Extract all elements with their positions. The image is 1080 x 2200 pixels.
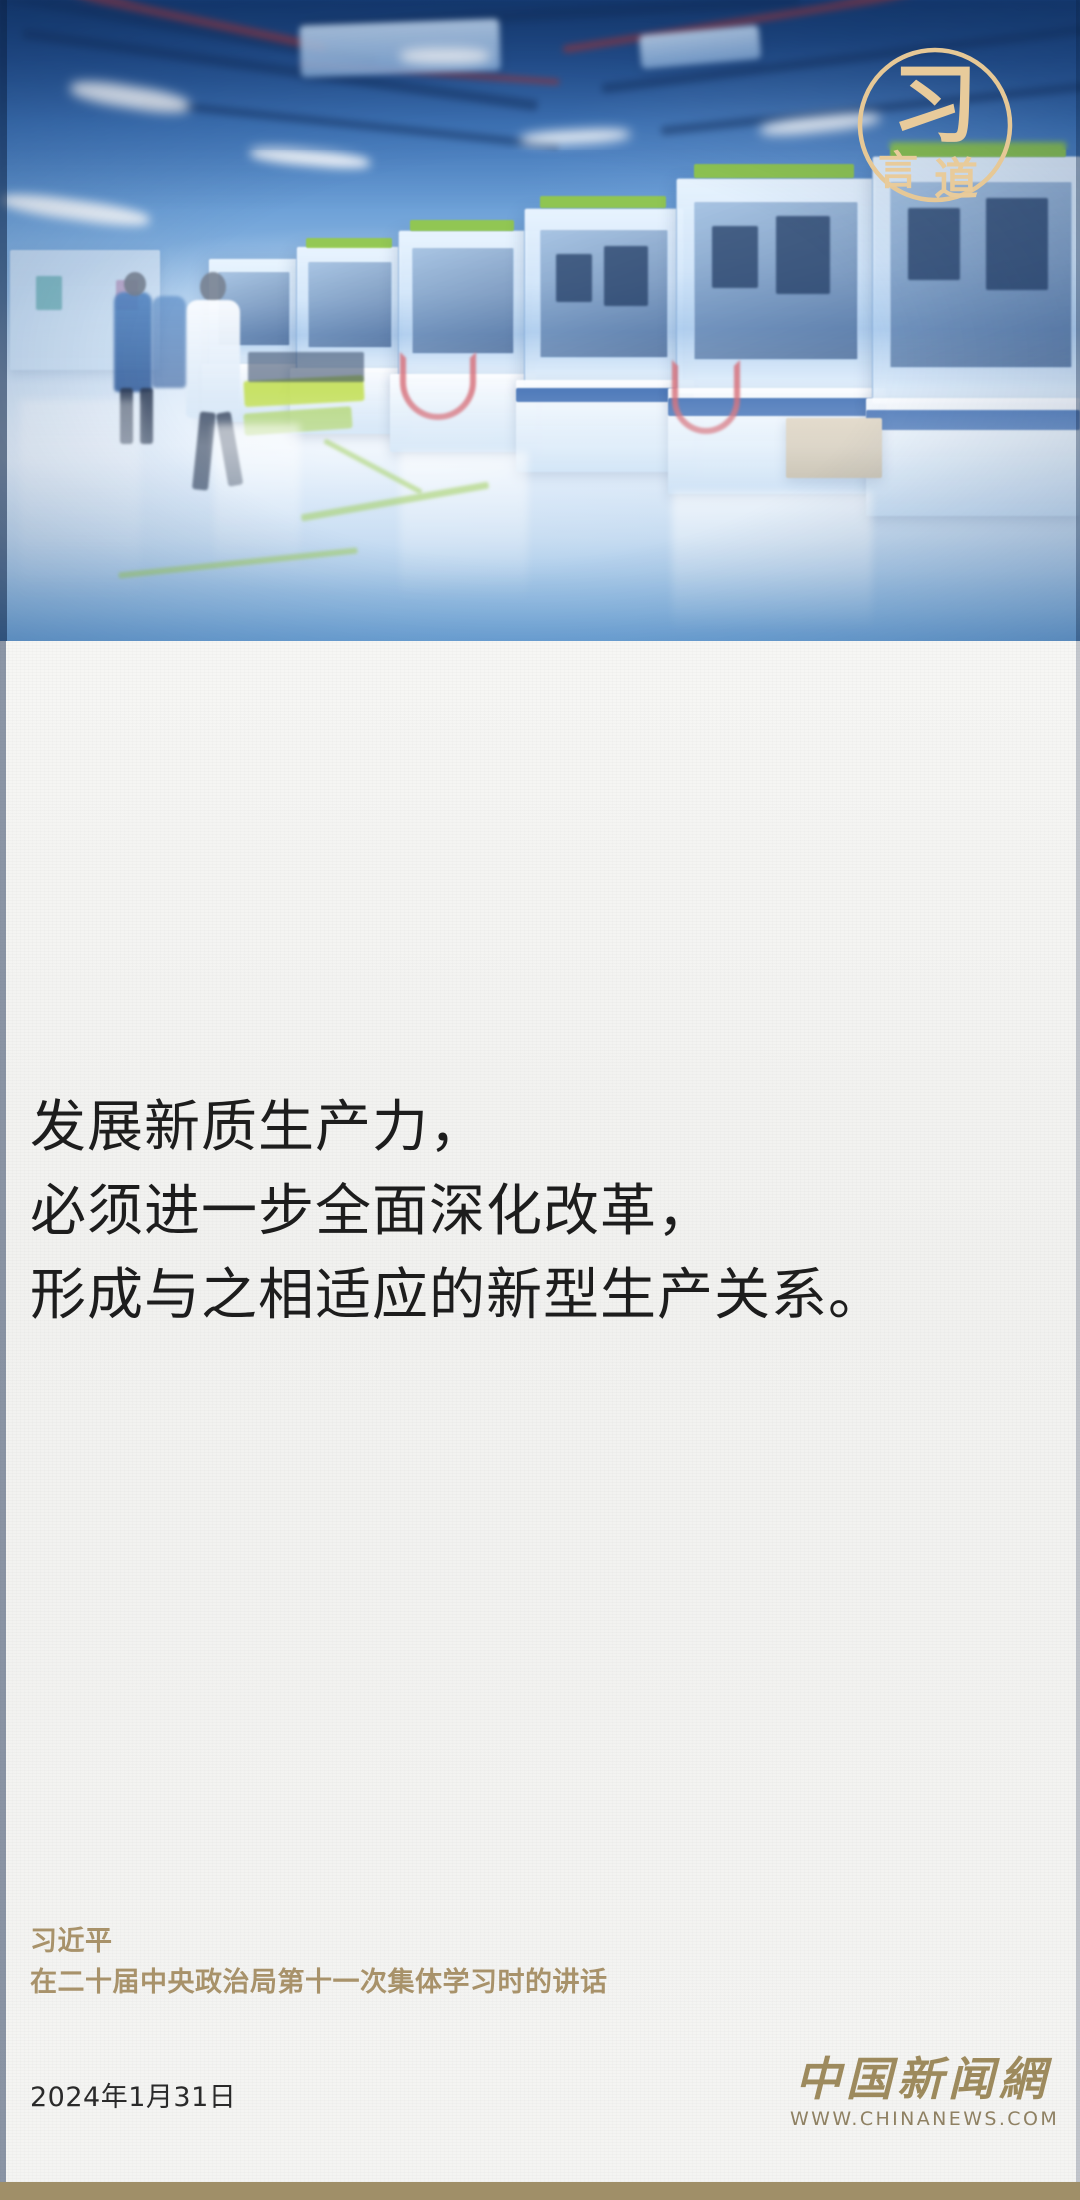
- chinanews-url: WWW.CHINANEWS.COM: [790, 2106, 1055, 2132]
- quote-line-3: 形成与之相适应的新型生产关系。: [30, 1254, 1050, 1338]
- attribution-block: 习近平 在二十届中央政治局第十一次集体学习时的讲话: [30, 1922, 730, 2004]
- chinanews-logo[interactable]: 中国新闻網 WWW.CHINANEWS.COM: [790, 2052, 1055, 2132]
- speech-source: 在二十届中央政治局第十一次集体学习时的讲话: [30, 1962, 730, 2004]
- bottom-accent-bar: [0, 2182, 1080, 2200]
- seal-char-yan: 言: [878, 147, 918, 194]
- quote-line-2: 必须进一步全面深化改革，: [30, 1170, 1050, 1254]
- quote-line-1: 发展新质生产力，: [30, 1086, 1050, 1170]
- speaker-name: 习近平: [30, 1922, 730, 1962]
- seal-char-top: 习: [892, 54, 978, 155]
- quote-block: 发展新质生产力， 必须进一步全面深化改革， 形成与之相适应的新型生产关系。: [30, 1086, 1050, 1338]
- poster-root: 习 言 道 发展新质生产力， 必须进一步全面深化改革， 形成与之相适应的新型生产…: [0, 0, 1080, 2200]
- hero-photo: 习 言 道: [0, 0, 1080, 641]
- seal-char-dao: 道: [934, 154, 978, 205]
- speech-date: 2024年1月31日: [30, 2075, 236, 2114]
- xi-yan-dao-seal: 习 言 道: [852, 42, 1018, 208]
- chinanews-wordmark: 中国新闻網: [790, 2052, 1055, 2106]
